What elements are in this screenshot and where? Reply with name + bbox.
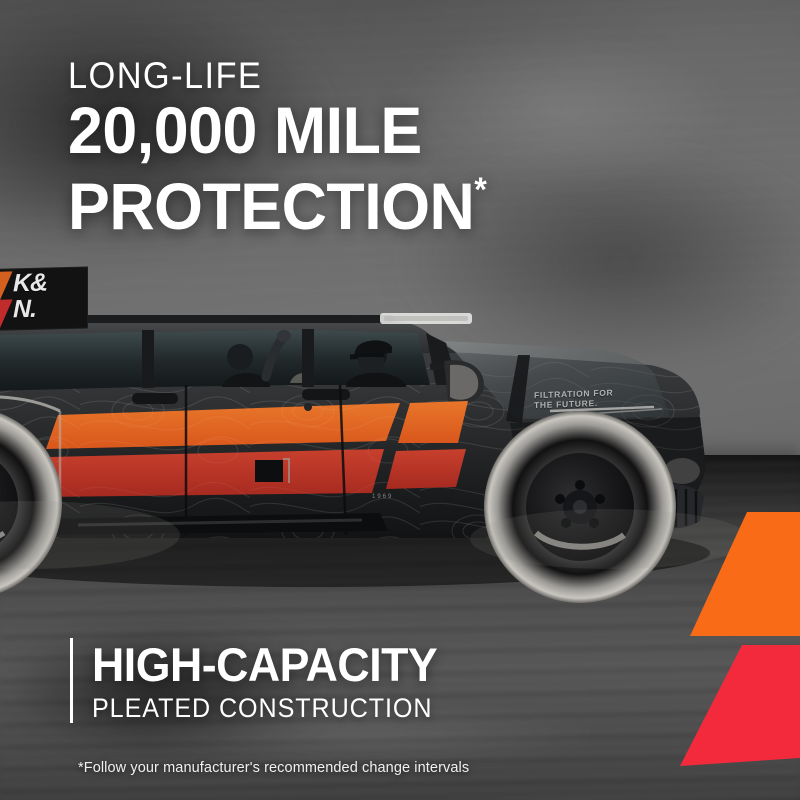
subheadline-text-group: HIGH-CAPACITY PLEATED CONSTRUCTION	[92, 638, 458, 723]
headline-line-1: 20,000 MILE	[68, 100, 657, 160]
wheel-front	[484, 411, 676, 603]
door-handle-front	[302, 389, 350, 400]
headline-asterisk: *	[474, 171, 486, 209]
brand-accent-shapes	[680, 490, 800, 790]
kn-logo-badge: K&N.	[0, 266, 88, 331]
footnote-disclaimer: *Follow your manufacturer's recommended …	[78, 760, 469, 776]
subheadline-secondary: PLEATED CONSTRUCTION	[92, 693, 432, 723]
advertisement-banner: K&N. FILTRATION FORTHE FUTURE. 1969 LONG…	[0, 0, 800, 800]
window-rear-side	[0, 332, 142, 391]
kn-stripe-red	[0, 299, 13, 331]
headline-line-2-text: PROTECTION	[68, 169, 474, 243]
driver-cap-brim	[350, 355, 384, 357]
side-graphic-red-front	[386, 449, 466, 489]
headline-line-2: PROTECTION*	[68, 160, 657, 236]
headline-block: LONG-LIFE 20,000 MILE PROTECTION*	[68, 56, 688, 236]
accent-shape-orange	[690, 512, 800, 636]
vehicle-year-mark: 1969	[372, 494, 393, 500]
light-bar-lens	[384, 316, 468, 321]
b-pillar	[142, 330, 154, 388]
door-lock	[304, 403, 312, 411]
headline-eyebrow: LONG-LIFE	[68, 56, 645, 96]
kn-logo-text: K&N.	[13, 268, 88, 322]
c-pillar	[302, 329, 314, 387]
door-vent	[255, 460, 283, 482]
vertical-divider-rule	[70, 638, 73, 723]
accent-shape-red	[680, 645, 800, 766]
vehicle-suv	[0, 235, 790, 655]
side-graphic-red	[42, 449, 384, 497]
door-handle-rear	[132, 393, 178, 404]
subheadline-primary: HIGH-CAPACITY	[92, 640, 440, 690]
subheadline-block: HIGH-CAPACITY PLEATED CONSTRUCTION	[70, 638, 458, 723]
headline-main: 20,000 MILE PROTECTION*	[68, 100, 657, 236]
